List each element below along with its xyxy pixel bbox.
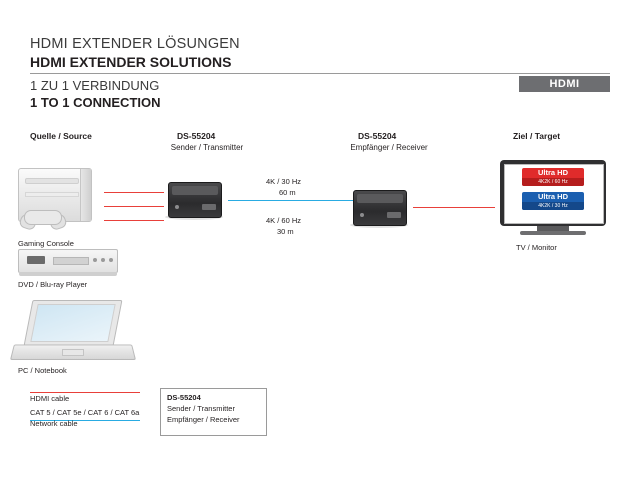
link-label-bottom-distance: 30 m	[277, 227, 294, 236]
column-caption-receiver-role: Empfänger / Receiver	[330, 143, 448, 152]
legend-label-network-1: CAT 5 / CAT 5e / CAT 6 / CAT 6a	[30, 408, 139, 417]
label-gaming-console: Gaming Console	[18, 239, 74, 248]
legend-box-ds55204: DS-55204 Sender / Transmitter Empfänger …	[160, 388, 267, 436]
diagram-page: HDMI EXTENDER LÖSUNGEN HDMI EXTENDER SOL…	[0, 0, 640, 480]
network-link	[228, 200, 358, 201]
legend-box-role-receiver: Empfänger / Receiver	[167, 415, 240, 424]
label-dvd-player: DVD / Blu-ray Player	[18, 280, 87, 289]
link-label-top-distance: 60 m	[279, 188, 296, 197]
hdmi-link-dvd	[104, 206, 164, 207]
hdmi-link-console	[104, 192, 164, 193]
legend-box-role-transmitter: Sender / Transmitter	[167, 404, 235, 413]
badge-ultra-hd-30hz-sub: 4K2K / 30 Hz	[522, 202, 584, 210]
link-label-bottom-rate: 4K / 60 Hz	[266, 216, 301, 225]
hdmi-badge: HDMI	[519, 76, 610, 92]
tv-base	[520, 231, 586, 235]
column-caption-transmitter-model: DS-55204	[177, 131, 215, 141]
badge-ultra-hd-30hz: Ultra HD 4K2K / 30 Hz	[522, 192, 584, 210]
label-notebook: PC / Notebook	[18, 366, 67, 375]
gamepad-graphic	[20, 206, 64, 228]
legend-label-hdmi: HDMI cable	[30, 394, 69, 403]
column-caption-transmitter-role: Sender / Transmitter	[152, 143, 262, 152]
badge-ultra-hd-60hz-sub: 4K2K / 60 Hz	[522, 178, 584, 186]
legend-box-model: DS-55204	[167, 393, 201, 402]
badge-ultra-hd-60hz: Ultra HD 4K2K / 60 Hz	[522, 168, 584, 186]
hdmi-link-tv	[413, 207, 495, 208]
badge-ultra-hd-30hz-title: Ultra HD	[522, 192, 584, 202]
badge-ultra-hd-60hz-title: Ultra HD	[522, 168, 584, 178]
header-divider	[30, 73, 610, 74]
notebook-graphic	[12, 300, 132, 362]
hdmi-link-notebook	[104, 220, 164, 221]
column-caption-source: Quelle / Source	[30, 131, 92, 141]
page-title-en: HDMI EXTENDER SOLUTIONS	[30, 54, 231, 70]
transmitter-device	[168, 182, 222, 218]
page-title-de: HDMI EXTENDER LÖSUNGEN	[30, 36, 240, 52]
legend-label-network-2: Network cable	[30, 419, 78, 428]
link-label-top-rate: 4K / 30 Hz	[266, 177, 301, 186]
page-subtitle-de: 1 ZU 1 VERBINDUNG	[30, 78, 159, 93]
page-subtitle-en: 1 TO 1 CONNECTION	[30, 95, 161, 110]
receiver-device	[353, 190, 407, 226]
dvd-player-graphic	[18, 249, 118, 273]
column-caption-receiver-model: DS-55204	[358, 131, 396, 141]
legend-line-hdmi	[30, 392, 140, 393]
label-tv-monitor: TV / Monitor	[516, 243, 557, 252]
column-caption-target: Ziel / Target	[513, 131, 560, 141]
